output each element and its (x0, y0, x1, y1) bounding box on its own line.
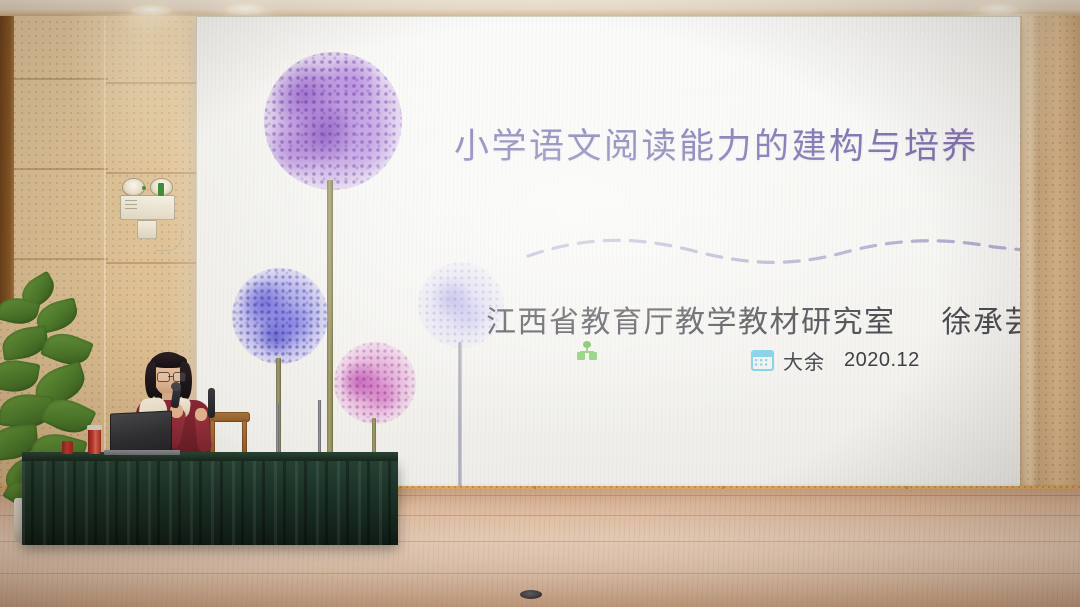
ceiling-light (222, 3, 268, 15)
wall-seam (106, 82, 196, 84)
small-red-cup (62, 441, 73, 454)
microphone-stand (276, 404, 279, 456)
wall-seam (106, 262, 196, 264)
ceiling-light (975, 3, 1021, 15)
wall-panel-right (1038, 16, 1080, 496)
table-skirt (22, 461, 398, 545)
microphone-head (171, 382, 181, 391)
thermos-lid (87, 425, 102, 430)
microphone-stand (318, 400, 321, 456)
wall-seam (0, 168, 108, 170)
red-thermos-cup (88, 428, 101, 454)
wall-pilaster (1020, 16, 1038, 496)
laptop-screen (110, 410, 172, 455)
wall-seam (0, 258, 108, 260)
floor-object (520, 590, 542, 599)
wall-seam (0, 78, 108, 80)
wall-seam (106, 172, 196, 174)
screenshot-root: 小学语文阅读能力的建构与培养 江西省教育厅教学教材研究室徐承芸 大余 2020.… (0, 0, 1080, 607)
presenter-hair-side (145, 362, 156, 398)
ceiling-light (128, 4, 174, 16)
laptop-base (104, 450, 180, 455)
microphone-secondary (208, 388, 215, 418)
wall-edge-left (0, 16, 14, 316)
presenter-hand (195, 408, 207, 421)
presenter-glasses (157, 372, 184, 382)
